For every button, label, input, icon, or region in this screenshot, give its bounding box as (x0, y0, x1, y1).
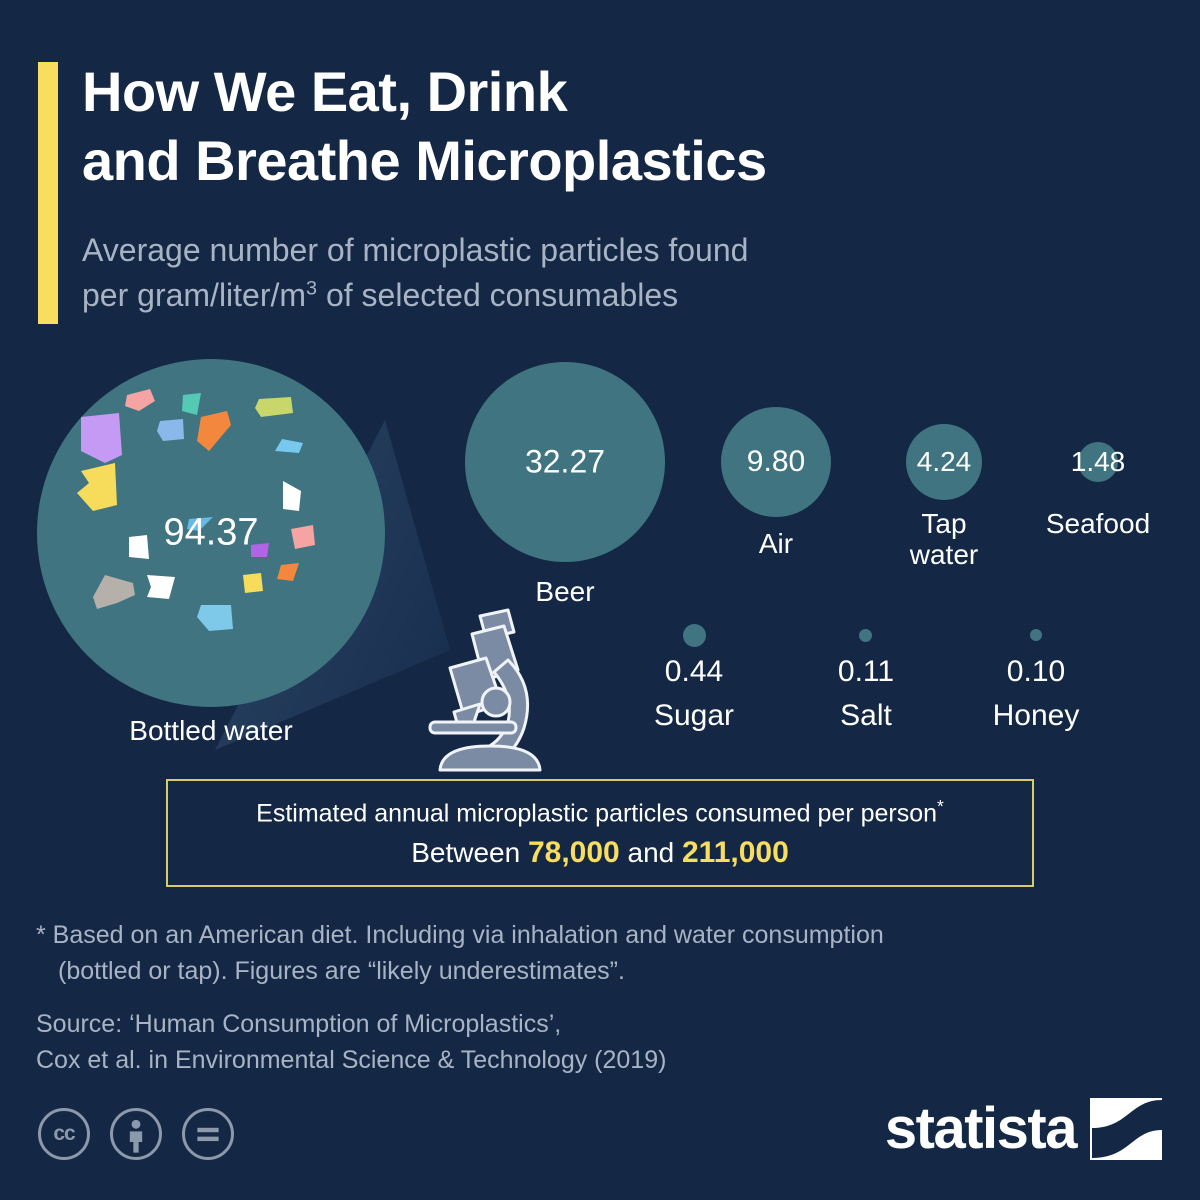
title-accent-bar (38, 62, 58, 324)
subtitle-superscript: 3 (306, 278, 317, 300)
bubble-value-sugar: 0.44 (614, 655, 774, 689)
bubble-seafood[interactable]: 1.48 (1078, 442, 1118, 482)
estimate-and-word: and (620, 837, 682, 868)
cc-no-derivatives-icon[interactable] (182, 1108, 234, 1160)
bubble-value-air: 9.80 (721, 445, 831, 479)
subtitle-line-1: Average number of microplastic particles… (82, 232, 748, 268)
estimate-footnote-marker: * (937, 796, 944, 816)
source-line-2: Cox et al. in Environmental Science & Te… (36, 1043, 1156, 1079)
bubble-label-sugar: Sugar (614, 699, 774, 733)
estimate-high-value: 211,000 (682, 836, 789, 869)
footnote-line-2: (bottled or tap). Figures are “likely un… (36, 954, 1156, 990)
statista-logo[interactable]: statista (885, 1098, 1162, 1160)
statista-mark-icon (1090, 1098, 1162, 1160)
bubble-salt[interactable] (859, 629, 872, 642)
infographic-canvas: How We Eat, Drink and Breathe Microplast… (0, 0, 1200, 1200)
bubble-air[interactable]: 9.80 (721, 407, 831, 517)
cc-icon[interactable]: cc (38, 1108, 90, 1160)
estimate-between-word: Between (411, 837, 528, 868)
source-note: Source: ‘Human Consumption of Microplast… (36, 1007, 1156, 1078)
bubble-value-bottled-water: 94.37 (37, 512, 385, 555)
bubble-label-tap-water-line1: Tap (921, 508, 966, 539)
bubble-value-tap-water: 4.24 (906, 446, 982, 478)
person-glyph (113, 1111, 159, 1157)
footnote: * Based on an American diet. Including v… (36, 918, 1156, 989)
subtitle-line-2: per gram/liter/m3 of selected consumable… (82, 273, 1082, 318)
bubble-label-honey: Honey (956, 699, 1116, 733)
microscope-icon (424, 608, 556, 783)
bubble-label-beer: Beer (465, 576, 665, 607)
estimate-headline-text: Estimated annual microplastic particles … (256, 800, 937, 828)
subtitle-unit-pre: per gram/liter/m (82, 277, 306, 313)
title-line-2: and Breathe Microplastics (82, 127, 1142, 196)
bubble-label-seafood: Seafood (1008, 508, 1188, 539)
bubble-value-honey: 0.10 (956, 655, 1116, 689)
footnote-line-1: * Based on an American diet. Including v… (36, 921, 884, 949)
cc-icon-label: cc (41, 1111, 87, 1157)
bubble-value-salt: 0.11 (786, 655, 946, 689)
subtitle-unit-post: of selected consumables (317, 277, 678, 313)
cc-attribution-icon[interactable] (110, 1108, 162, 1160)
estimate-low-value: 78,000 (528, 836, 620, 869)
estimate-callout-box: Estimated annual microplastic particles … (166, 779, 1034, 887)
equals-glyph (185, 1111, 231, 1157)
bubble-value-beer: 32.27 (465, 444, 665, 481)
bubble-value-seafood: 1.48 (1028, 446, 1168, 478)
estimate-range: Between 78,000 and 211,000 (411, 836, 789, 870)
page-subtitle: Average number of microplastic particles… (82, 228, 1082, 319)
bubble-label-tap-water-line2: water (874, 539, 1014, 570)
estimate-headline: Estimated annual microplastic particles … (256, 796, 944, 830)
bubble-label-air: Air (706, 528, 846, 559)
source-line-1: Source: ‘Human Consumption of Microplast… (36, 1007, 1156, 1043)
bubble-sugar[interactable] (683, 624, 706, 647)
footnotes-block: * Based on an American diet. Including v… (36, 918, 1156, 1078)
bubble-beer[interactable]: 32.27 (465, 362, 665, 562)
creative-commons-badges: cc (38, 1108, 234, 1160)
bubble-honey[interactable] (1030, 629, 1042, 641)
title-line-1: How We Eat, Drink (82, 60, 567, 123)
bubble-bottled-water[interactable]: 94.37 (37, 359, 385, 707)
statista-wordmark: statista (885, 1100, 1076, 1158)
bubble-label-bottled-water: Bottled water (37, 715, 385, 746)
bubble-tap-water[interactable]: 4.24 (906, 424, 982, 500)
bubble-label-salt: Salt (786, 699, 946, 733)
page-title: How We Eat, Drink and Breathe Microplast… (82, 58, 1142, 196)
bubble-label-tap-water: Tap water (874, 508, 1014, 571)
